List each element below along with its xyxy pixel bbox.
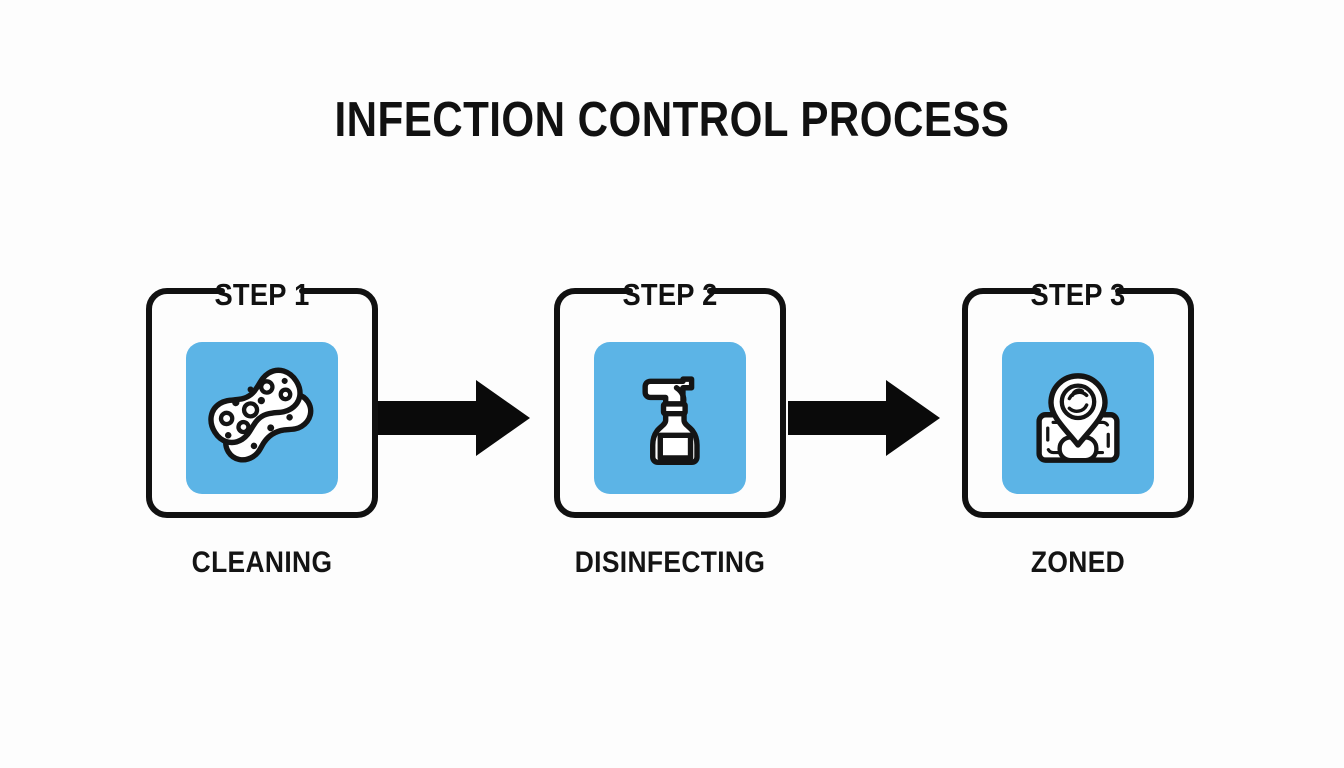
process-step-2[interactable]: STEP 2: [554, 288, 786, 518]
step-label-1: STEP 1: [160, 279, 364, 310]
step-caption-1: CLEANING: [134, 548, 391, 578]
step-icon-tile-2: [594, 342, 746, 494]
step-label-3: STEP 3: [976, 279, 1180, 310]
step-label-2: STEP 2: [568, 279, 772, 310]
step-card-2: STEP 2: [554, 288, 786, 518]
sponge-icon: [208, 364, 316, 472]
map-location-pin-icon: [1024, 364, 1132, 472]
process-step-3[interactable]: STEP 3: [962, 288, 1194, 518]
infection-control-infographic: INFECTION CONTROL PROCESS STEP 1: [0, 0, 1344, 768]
step-card-1: STEP 1: [146, 288, 378, 518]
right-arrow-icon: [788, 380, 940, 456]
step-caption-3: ZONED: [950, 548, 1207, 578]
process-steps-row: STEP 1: [0, 288, 1344, 588]
page-title: INFECTION CONTROL PROCESS: [94, 96, 1250, 145]
arrow-step1-to-step2: [378, 380, 530, 456]
process-step-1[interactable]: STEP 1: [146, 288, 378, 518]
spray-bottle-icon: [616, 364, 724, 472]
right-arrow-icon: [378, 380, 530, 456]
step-icon-tile-3: [1002, 342, 1154, 494]
step-icon-tile-1: [186, 342, 338, 494]
step-caption-2: DISINFECTING: [542, 548, 799, 578]
arrow-step2-to-step3: [788, 380, 940, 456]
step-card-3: STEP 3: [962, 288, 1194, 518]
